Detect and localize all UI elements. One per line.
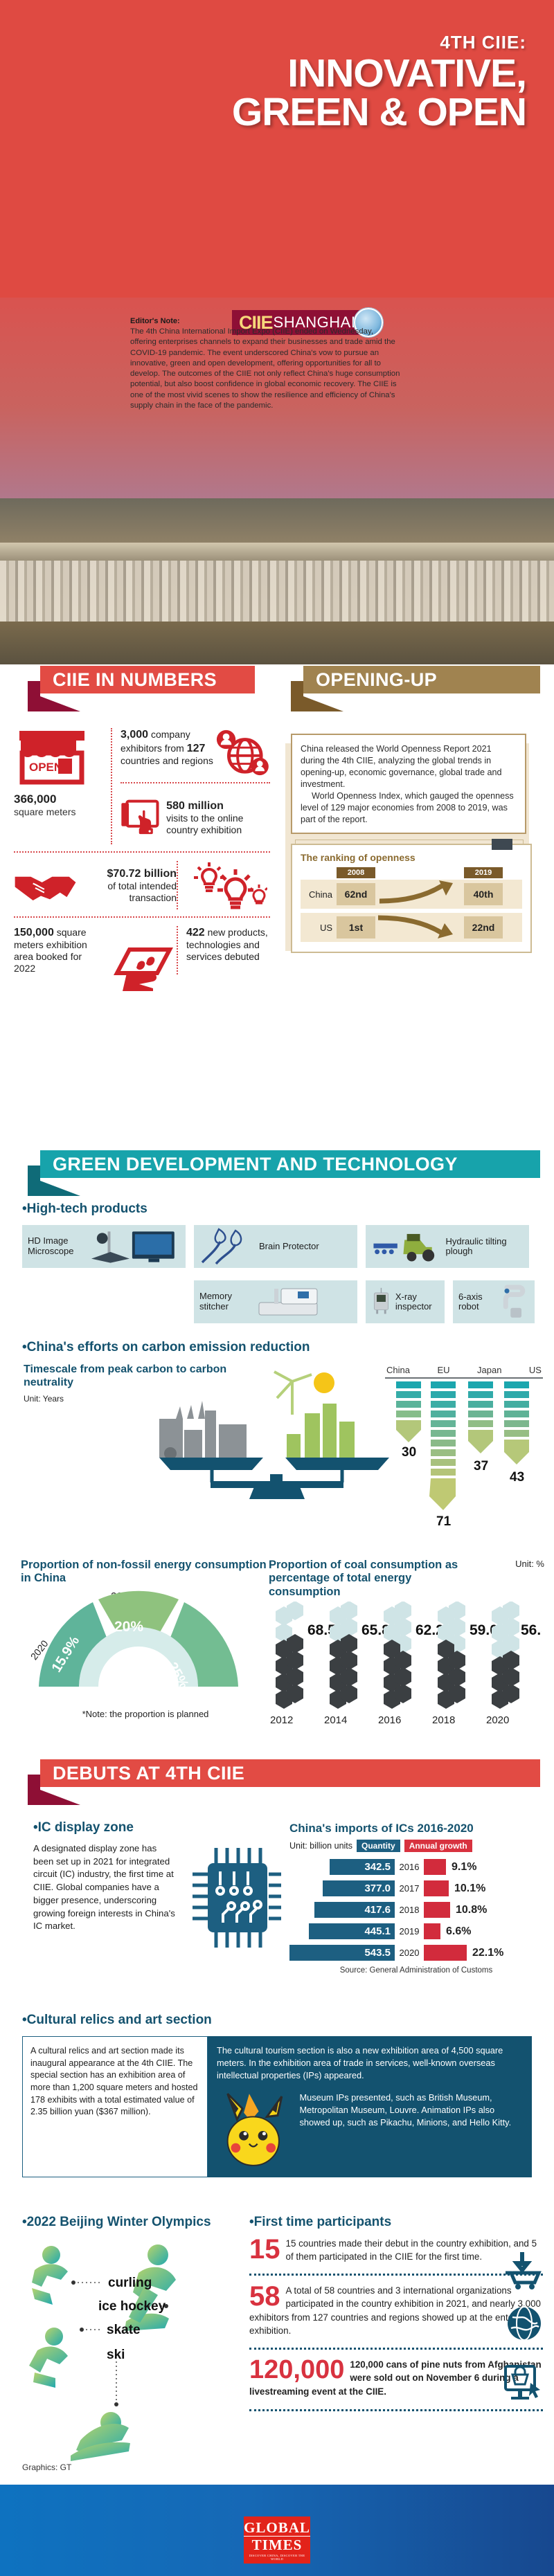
stat-transaction-text: of total intended transaction <box>107 880 177 903</box>
coal-col-2016: 62.2 2016 <box>378 1602 444 1726</box>
nonfossil-chart: Proportion of non-fossil energy consumpt… <box>21 1559 270 1719</box>
credits: Graphics: GT <box>22 2462 230 2472</box>
stat-area-value: 366,000 <box>14 792 104 806</box>
debuts-title-text: DEBUTS AT 4TH CIIE <box>53 1763 244 1784</box>
stat-online-visits-text: visits to the online country exhibition <box>166 813 243 835</box>
svg-text:2018: 2018 <box>432 1714 455 1726</box>
product-label-hd-microscope: HD Image Microscope <box>28 1236 90 1257</box>
fact-120000: 120,000 120,000 cans of pine nuts from A… <box>249 2358 543 2398</box>
carbon-bar-eu: 71 <box>429 1381 456 1529</box>
section-title-green: GREEN DEVELOPMENT AND TECHNOLOGY <box>40 1150 540 1178</box>
ranking-row-us: US 1st 22nd <box>301 913 522 942</box>
green-ribbon-fold <box>40 1181 80 1196</box>
ic-chip-icon <box>191 1845 283 1950</box>
nonfossil-note: *Note: the proportion is planned <box>21 1709 270 1719</box>
olympics-graphic: curling ice hockey skate ski <box>22 2240 230 2461</box>
coal-title: Proportion of coal consumption as percen… <box>269 1559 470 1599</box>
tablet-touch-icon <box>120 790 162 844</box>
ic-chart-title: China's imports of ICs 2016-2020 <box>289 1822 543 1835</box>
svg-text:71: 71 <box>436 1514 452 1529</box>
globe-people-icon <box>215 728 270 777</box>
stat-exhibitors-value: 3,000 <box>120 729 148 741</box>
logo-line-1: GLOBAL <box>244 2521 310 2537</box>
legend-quantity: Quantity <box>357 1840 400 1852</box>
opening-title-text: OPENING-UP <box>316 669 437 691</box>
olympics-block: •2022 Beijing Winter Olympics <box>22 2215 230 2472</box>
product-label-hydraulic-plough: Hydraulic tilting plough <box>446 1237 524 1255</box>
hero-eyebrow: 4TH CIIE: <box>0 32 526 53</box>
infographic-page: 4TH CIIE: INNOVATIVE, GREEN & OPEN CIIES… <box>0 0 554 2576</box>
livestream-shopping-icon <box>503 2364 543 2404</box>
carbon-heading: •China's efforts on carbon emission redu… <box>22 1340 310 1355</box>
arrow-up-icon <box>375 879 464 907</box>
stat-countries-value: 127 <box>187 743 206 754</box>
opening-up-panel: China released the World Openness Report… <box>291 734 542 953</box>
ic-qty-2020: 543.5 <box>289 1945 395 1961</box>
ranking-us-2008: 1st <box>337 916 375 938</box>
stat-countries-text: countries and regions <box>120 755 213 766</box>
coal-unit: Unit: % <box>515 1559 544 1569</box>
hand-coins-icon <box>92 943 174 991</box>
global-times-logo: GLOBAL TIMES DISCOVER CHINA, DISCOVER TH… <box>244 2516 310 2564</box>
lightbulbs-icon <box>190 861 267 909</box>
section-title-opening: OPENING-UP <box>303 666 540 693</box>
ic-heading: •IC display zone <box>33 1820 283 1835</box>
ic-unit: Unit: billion units <box>289 1841 352 1851</box>
xray-machine-icon <box>371 1282 391 1321</box>
carbon-cat-china: China <box>386 1365 410 1375</box>
ic-growth-2018: 10.8% <box>456 1904 487 1916</box>
fact-120000-number: 120,000 <box>249 2358 344 2382</box>
svg-text:37: 37 <box>474 1459 488 1473</box>
ic-year-2016: 2016 <box>395 1862 424 1872</box>
openness-paragraph-1: China released the World Openness Report… <box>301 743 517 790</box>
carbon-chart-legend: China EU Japan US <box>385 1365 543 1375</box>
first-time-block: •First time participants 15 15 countries… <box>249 2215 543 2411</box>
carbon-bar-japan: 37 <box>468 1381 493 1473</box>
fact-58-number: 58 <box>249 2284 280 2309</box>
ic-year-2020: 2020 <box>395 1948 424 1958</box>
cultural-right-p1: The cultural tourism section is also a n… <box>217 2044 523 2082</box>
ic-year-2019: 2019 <box>395 1926 424 1936</box>
svg-text:OPEN: OPEN <box>29 761 62 774</box>
coal-col-2020: 56.8 2020 <box>486 1602 542 1726</box>
ic-growth-bar-2020: . <box>424 1945 467 1961</box>
cultural-right-p2: Museum IPs presented, such as British Mu… <box>300 2092 524 2129</box>
stat-area-label: square meters <box>14 806 104 817</box>
product-tile-hydraulic-plough: Hydraulic tilting plough <box>366 1225 529 1268</box>
ic-year-2017: 2017 <box>395 1883 424 1894</box>
nonfossil-title: Proportion of non-fossil energy consumpt… <box>21 1559 270 1586</box>
pikachu-icon <box>217 2092 292 2169</box>
carbon-arrow-chart: China EU Japan US 30 <box>385 1365 543 1541</box>
carbon-cat-japan: Japan <box>477 1365 501 1375</box>
ranking-us-2019: 22nd <box>464 916 503 938</box>
footer: GLOBAL TIMES DISCOVER CHINA, DISCOVER TH… <box>0 2485 554 2576</box>
green-development-section: GREEN DEVELOPMENT AND TECHNOLOGY •High-t… <box>0 1149 554 1758</box>
cultural-heading: •Cultural relics and art section <box>22 2013 212 2028</box>
stat-online-visits: 580 million visits to the online country… <box>166 799 270 836</box>
carbon-bar-china: 30 <box>396 1381 421 1460</box>
tractor-plough-icon <box>371 1228 442 1265</box>
ic-growth-2016: 9.1% <box>452 1861 476 1874</box>
green-ribbon-tail <box>28 1165 40 1196</box>
ranking-year-end: 2019 <box>464 867 503 878</box>
svg-text:2012: 2012 <box>270 1714 293 1726</box>
svg-text:2014: 2014 <box>324 1714 347 1726</box>
fact-58-text: A total of 58 countries and 3 internatio… <box>249 2285 541 2336</box>
debuts-section: DEBUTS AT 4TH CIIE •IC display zone <box>0 1758 554 2485</box>
stat-debuts: 422 new products, technologies and servi… <box>186 926 270 963</box>
product-row-2: Memory stitcher X-ray inspector <box>194 1280 535 1323</box>
brain-protector-icon <box>199 1228 253 1265</box>
ic-source: Source: General Administration of Custom… <box>289 1966 543 1975</box>
sewing-machine-icon <box>253 1285 325 1319</box>
ic-row-2018: 417.6 2018 . 10.8% <box>289 1902 543 1918</box>
ic-growth-2017: 10.1% <box>454 1883 485 1895</box>
first-time-heading: •First time participants <box>249 2215 543 2230</box>
ic-body: A designated display zone has been set u… <box>33 1842 179 1933</box>
editor-note-body: The 4th China International Import Expo … <box>130 327 400 411</box>
product-label-xray-inspector: X-ray inspector <box>395 1292 439 1312</box>
ic-display-zone: •IC display zone <box>33 1820 283 1933</box>
ranking-panel: The ranking of openness 2008 2019 China … <box>291 844 532 953</box>
ic-row-2017: 377.0 2017 . 10.1% <box>289 1880 543 1896</box>
product-tile-brain-protector: Brain Protector <box>194 1225 357 1268</box>
paper-clip-icon <box>492 839 512 850</box>
numbers-ribbon-tail <box>28 681 40 711</box>
nonfossil-semidonut: 2025* 2020 2030* 15.9% 20% 25% <box>21 1590 256 1704</box>
product-tile-xray-inspector: X-ray inspector <box>366 1280 445 1323</box>
ic-rows: 342.5 2016 . 9.1% 377.0 2017 . 10.1% 417… <box>289 1859 543 1961</box>
hero-title-line-2: GREEN & OPEN <box>0 93 526 132</box>
carbon-cat-us: US <box>529 1365 542 1375</box>
ic-growth-bar-2019: . <box>424 1923 440 1939</box>
ic-chart-legend: Unit: billion units Quantity Annual grow… <box>289 1840 543 1852</box>
sport-label-ice-hockey: ice hockey <box>98 2299 166 2314</box>
ic-qty-2017: 377.0 <box>323 1880 395 1896</box>
numbers-title-text: CIIE IN NUMBERS <box>53 669 217 691</box>
product-row-1: HD Image Microscope Brain Protector <box>22 1225 535 1268</box>
ic-growth-bar-2017: . <box>424 1880 449 1896</box>
ic-qty-2016: 342.5 <box>330 1859 395 1875</box>
microscope-monitor-icon <box>90 1228 180 1264</box>
product-label-memory-stitcher: Memory stitcher <box>199 1291 253 1312</box>
shop-open-icon: OPEN <box>14 728 90 785</box>
ic-row-2020: 543.5 2020 . 22.1% <box>289 1945 543 1961</box>
stat-online-visits-value: 580 million <box>166 800 224 812</box>
cultural-panels: A cultural relics and art section made i… <box>22 2036 532 2177</box>
fact-15-number: 15 <box>249 2237 280 2262</box>
coal-hex-columns: 68.5 2012 65.8 2014 <box>269 1602 542 1726</box>
openness-report-card: China released the World Openness Report… <box>291 734 526 834</box>
stat-exhibitors: 3,000 company exhibitors from 127 countr… <box>120 728 215 767</box>
sport-label-skate: skate <box>107 2323 141 2337</box>
editor-note-band: CIIESHANGHAI Editor's Note: The 4th Chin… <box>0 298 554 664</box>
coal-col-2018: 59.0 2018 <box>432 1602 498 1726</box>
coal-col-2014: 65.8 2014 <box>324 1602 390 1726</box>
green-title-text: GREEN DEVELOPMENT AND TECHNOLOGY <box>53 1154 458 1175</box>
fact-58: 58 A total of 58 countries and 3 interna… <box>249 2284 543 2338</box>
handshake-icon <box>14 864 77 907</box>
section-title-numbers: CIIE IN NUMBERS <box>40 666 255 693</box>
ic-qty-2018: 417.6 <box>314 1902 395 1918</box>
ic-qty-2019: 445.1 <box>309 1923 395 1939</box>
product-tile-hd-microscope: HD Image Microscope <box>22 1225 186 1268</box>
arrow-down-icon <box>375 912 464 940</box>
stat-transaction-value: $70.72 billion <box>107 868 177 880</box>
venue-photo <box>0 498 554 664</box>
openness-paragraph-2: World Openness Index, which gauged the o… <box>301 790 517 826</box>
product-label-brain-protector: Brain Protector <box>259 1242 319 1252</box>
carbon-cat-eu: EU <box>437 1365 449 1375</box>
coal-col-2012: 68.5 2012 <box>270 1602 336 1726</box>
opening-ribbon-tail <box>291 681 303 711</box>
section-title-debuts: DEBUTS AT 4TH CIIE <box>40 1759 540 1787</box>
cultural-right-panel: The cultural tourism section is also a n… <box>208 2036 532 2177</box>
ic-row-2016: 342.5 2016 . 9.1% <box>289 1859 543 1875</box>
ic-row-2019: 445.1 2019 . 6.6% <box>289 1923 543 1939</box>
carbon-arrows-svg: 30 71 37 <box>385 1379 543 1538</box>
product-tile-6axis-robot: 6-axis robot <box>453 1280 535 1323</box>
ranking-country-us: US <box>301 923 337 933</box>
product-label-6axis-robot: 6-axis robot <box>458 1292 499 1312</box>
opening-ribbon-fold <box>303 696 343 711</box>
hightech-heading: •High-tech products <box>22 1201 148 1217</box>
svg-text:2016: 2016 <box>378 1714 401 1726</box>
robot-arm-icon <box>502 1282 529 1321</box>
ranking-china-2008: 62nd <box>337 883 375 905</box>
numbers-and-opening-section: CIIE IN NUMBERS OPENING-UP OPEN <box>0 664 554 1149</box>
stat-booked-area-value: 150,000 <box>14 927 54 938</box>
svg-text:43: 43 <box>510 1470 524 1485</box>
carbon-bar-us: 43 <box>504 1381 529 1485</box>
product-tile-memory-stitcher: Memory stitcher <box>194 1280 357 1323</box>
sport-label-ski: ski <box>107 2348 125 2362</box>
legend-growth: Annual growth <box>404 1840 472 1852</box>
stat-debuts-value: 422 <box>186 927 205 938</box>
hero-banner: 4TH CIIE: INNOVATIVE, GREEN & OPEN <box>0 0 554 298</box>
stat-booked-area: 150,000 square meters exhibition area bo… <box>14 926 97 974</box>
debuts-ribbon-fold <box>40 1790 80 1805</box>
numbers-ribbon-fold <box>40 696 80 711</box>
venue-roof <box>0 543 554 561</box>
balance-scale-graphic <box>138 1370 415 1509</box>
ranking-row-china: China 62nd 40th <box>301 880 522 909</box>
fact-15: 15 15 countries made their debut in the … <box>249 2237 543 2264</box>
sport-label-curling: curling <box>108 2276 152 2290</box>
ranking-title: The ranking of openness <box>301 852 522 863</box>
svg-text:2020: 2020 <box>486 1714 509 1726</box>
ic-growth-bar-2016: . <box>424 1859 446 1875</box>
winter-sports-figures: curling ice hockey skate ski <box>22 2240 230 2461</box>
logo-line-2: TIMES <box>244 2538 310 2552</box>
nonfossil-value-2025: 20% <box>114 1619 143 1635</box>
ranking-card: The ranking of openness 2008 2019 China … <box>291 844 532 953</box>
ranking-year-start: 2008 <box>337 867 375 878</box>
numbers-grid: OPEN 366,000 square meters 3,000 company… <box>14 728 270 974</box>
coal-chart: Proportion of coal consumption as percen… <box>269 1559 544 1730</box>
ranking-country-china: China <box>301 889 337 900</box>
editor-note-heading: Editor's Note: <box>130 317 400 325</box>
ic-growth-bar-2018: . <box>424 1902 450 1918</box>
globe-icon <box>506 2305 543 2342</box>
ic-growth-2019: 6.6% <box>446 1925 471 1938</box>
fact-15-text: 15 countries made their debut in the cou… <box>286 2238 537 2262</box>
stat-transaction: $70.72 billion of total intended transac… <box>80 867 177 904</box>
svg-text:30: 30 <box>402 1445 416 1460</box>
olympics-heading: •2022 Beijing Winter Olympics <box>22 2215 230 2230</box>
logo-tagline: DISCOVER CHINA, DISCOVER THE WORLD <box>244 2555 310 2561</box>
svg-text:56.8: 56.8 <box>521 1622 542 1638</box>
editor-note: Editor's Note: The 4th China Internation… <box>130 317 400 411</box>
ic-growth-2020: 22.1% <box>472 1947 503 1959</box>
ranking-china-2019: 40th <box>464 883 503 905</box>
ic-imports-chart: China's imports of ICs 2016-2020 Unit: b… <box>289 1822 543 1975</box>
cultural-left-panel: A cultural relics and art section made i… <box>22 2036 208 2177</box>
ic-year-2018: 2018 <box>395 1905 424 1915</box>
debuts-ribbon-tail <box>28 1775 40 1805</box>
hero-title-line-1: INNOVATIVE, <box>0 55 526 93</box>
